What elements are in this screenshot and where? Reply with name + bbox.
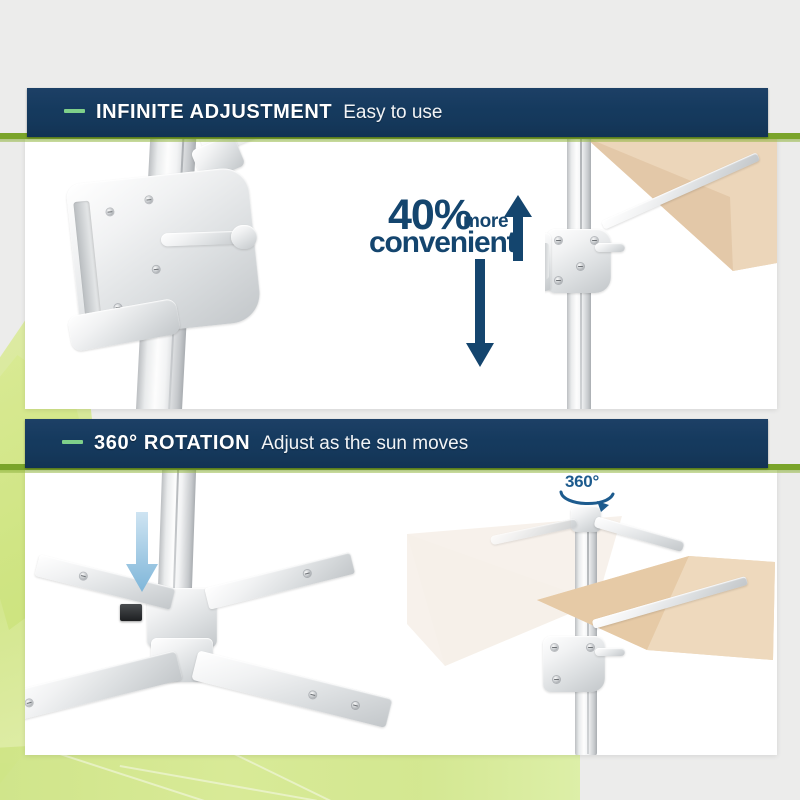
- arrow-down-icon: [463, 259, 497, 369]
- bracket-screw: [152, 266, 160, 274]
- bracket-screw: [577, 263, 584, 270]
- blue-down-arrow-icon: [125, 512, 159, 594]
- base-arm-front-left: [25, 650, 183, 723]
- section-1-image-panel: 40% more convenient: [25, 137, 777, 409]
- section-1-title: INFINITE ADJUSTMENT: [96, 101, 332, 124]
- base-screw: [79, 572, 87, 580]
- bracket-slot: [73, 201, 101, 322]
- section-1-header: INFINITE ADJUSTMENT Easy to use: [27, 88, 768, 137]
- section-2-title: 360° ROTATION: [94, 432, 250, 455]
- convenience-callout: 40% more convenient: [355, 137, 570, 409]
- tilt-bracket-closeup-image: [25, 137, 355, 409]
- locking-pin: [595, 243, 625, 252]
- section-2-header: 360° ROTATION Adjust as the sun moves: [25, 419, 768, 468]
- base-screw: [25, 699, 33, 707]
- bracket-screw: [587, 644, 594, 651]
- locking-pin: [595, 648, 625, 656]
- section-1-green-underline-soft: [0, 139, 800, 142]
- product-feature-graphic: 40% more convenient: [0, 0, 800, 800]
- section-1-subtitle: Easy to use: [343, 102, 442, 124]
- mounted-bracket-with-canopy-image: [545, 137, 777, 409]
- rotating-canopy-image: 360°: [397, 470, 777, 755]
- cross-base-closeup-image: [25, 470, 397, 755]
- base-adjuster-knob: [120, 604, 142, 621]
- base-screw: [309, 691, 317, 699]
- green-dash-icon: [64, 109, 85, 113]
- mounted-bracket-body: [547, 229, 611, 293]
- bracket-slot: [545, 243, 549, 279]
- bracket-screw: [553, 676, 560, 683]
- section-2-subtitle: Adjust as the sun moves: [261, 433, 468, 455]
- section-2-green-underline-soft: [0, 470, 800, 473]
- bracket-screw: [145, 196, 153, 204]
- base-screw: [303, 569, 311, 577]
- rotation-arrow-icon: [557, 488, 619, 514]
- bracket-screw: [555, 277, 562, 284]
- base-arm-back-right: [204, 552, 355, 610]
- base-screw: [351, 701, 359, 709]
- tilt-bracket-body: [543, 636, 605, 692]
- base-arm-front-right: [191, 650, 392, 727]
- bracket-screw: [106, 208, 114, 216]
- section-2-image-panel: 360°: [25, 470, 777, 755]
- bracket-screw: [555, 237, 562, 244]
- bracket-screw: [551, 644, 558, 651]
- lever-knob: [231, 225, 257, 249]
- green-dash-icon: [62, 440, 83, 444]
- callout-convenient: convenient: [369, 229, 515, 258]
- arrow-up-icon: [501, 193, 535, 263]
